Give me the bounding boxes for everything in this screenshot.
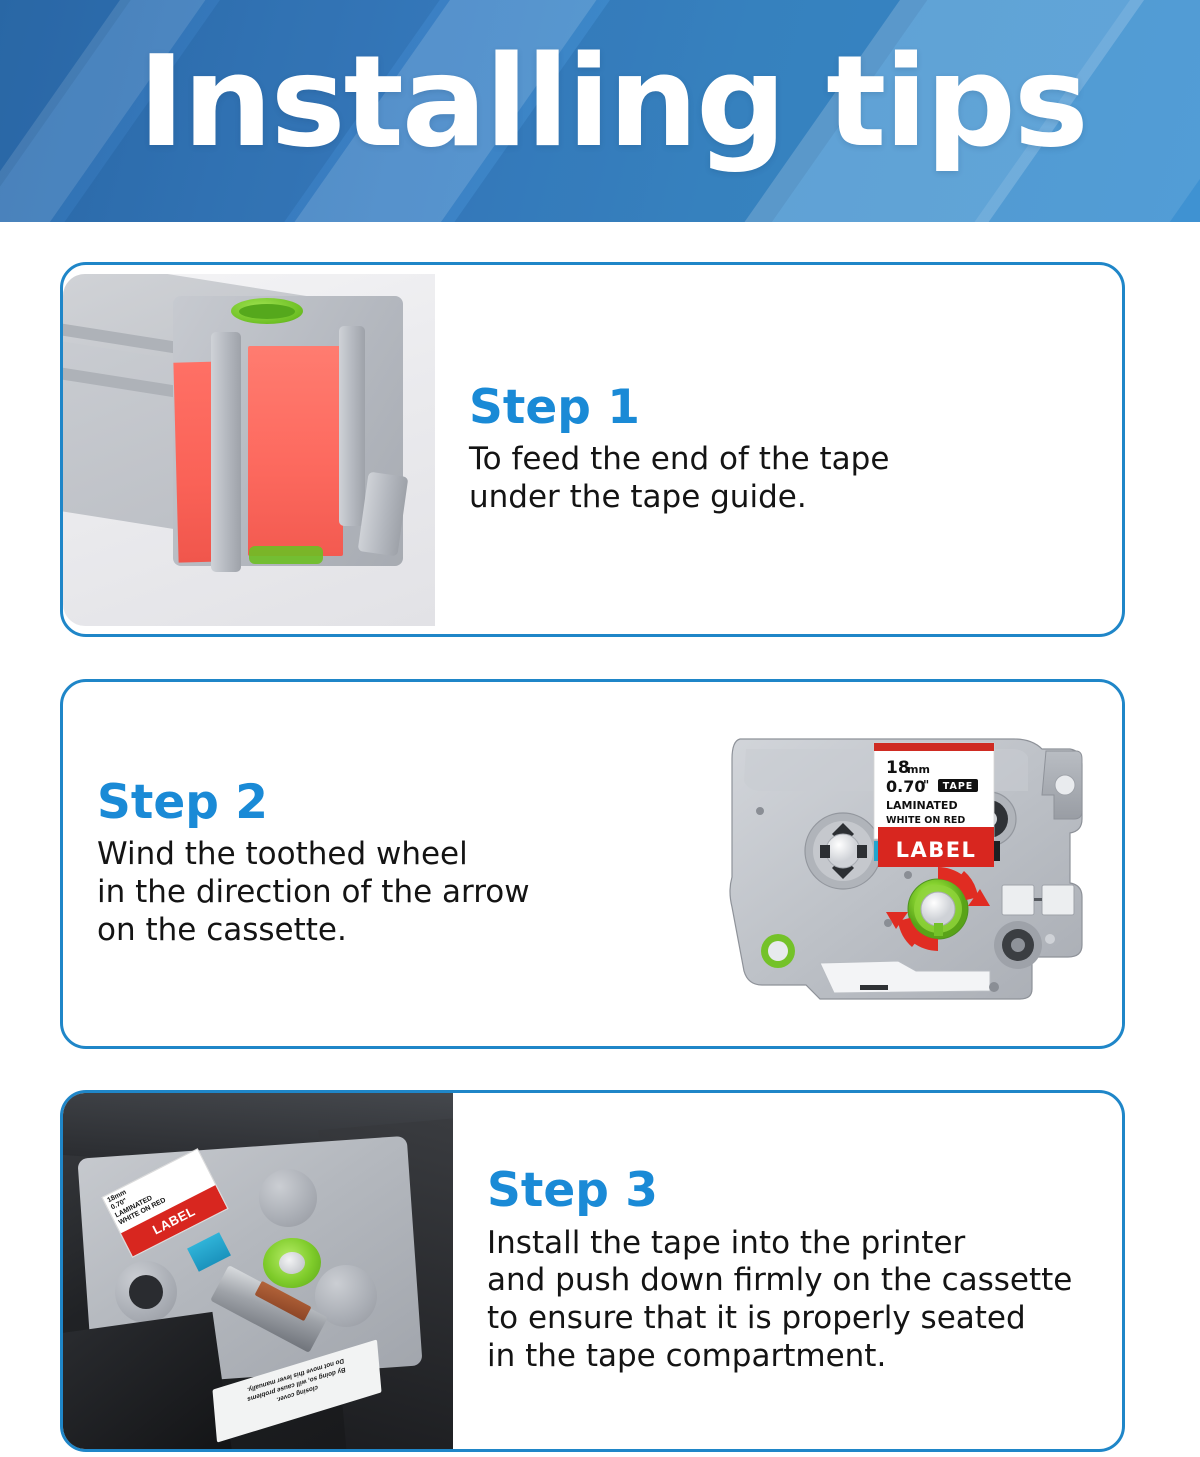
step-3-line-4: in the tape compartment. <box>487 1338 1088 1376</box>
guide-block-left <box>1002 885 1034 915</box>
tape-guide-post-left <box>211 332 241 572</box>
step-2-text: Step 2 Wind the toothed wheel in the dir… <box>63 778 702 950</box>
page-title: Installing tips <box>138 28 1087 177</box>
cassette-diagram: 18 mm 0.70 " TAPE LAMINATED WHITE ON RED… <box>702 699 1122 1029</box>
spool-key-left <box>820 845 830 858</box>
step-3-title: Step 3 <box>487 1166 1088 1215</box>
label-size-mm-unit: mm <box>907 763 930 776</box>
label-color-spec: WHITE ON RED <box>886 815 965 826</box>
step-3-line-2: and push down firmly on the cassette <box>487 1262 1088 1300</box>
step-2-body: Wind the toothed wheel in the direction … <box>97 836 668 949</box>
step-1-line-1: To feed the end of the tape <box>469 441 1088 479</box>
green-wheel-inner <box>239 304 295 319</box>
label-top-stripe <box>874 743 994 751</box>
cassette-label: 18 mm 0.70 " TAPE LAMINATED WHITE ON RED… <box>874 743 994 867</box>
step-3-body: Install the tape into the printer and pu… <box>487 1225 1088 1376</box>
label-size-inch-unit: " <box>923 778 929 792</box>
step-1-title: Step 1 <box>469 383 1088 432</box>
bay-spool-right <box>259 1169 317 1227</box>
spool-key-right <box>857 845 867 858</box>
pin-hole-2 <box>904 871 912 879</box>
label-tape-badge: TAPE <box>943 781 974 792</box>
step-1-line-2: under the tape guide. <box>469 479 1088 517</box>
roller-hub <box>1011 938 1025 952</box>
step-3-photo: 18mm 0.70" LAMINATED WHITE ON RED LABEL … <box>63 1093 453 1449</box>
pin-hole-3 <box>884 919 892 927</box>
label-size-inch: 0.70 <box>886 777 925 796</box>
step-2-line-3: on the cassette. <box>97 912 668 950</box>
step-3-line-1: Install the tape into the printer <box>487 1225 1088 1263</box>
ear-hole <box>1055 775 1075 795</box>
guide-plate-slot <box>860 985 888 990</box>
step-card-3: 18mm 0.70" LAMINATED WHITE ON RED LABEL … <box>60 1090 1125 1452</box>
green-wheel-bottom <box>249 546 323 564</box>
installing-tips-page: Installing tips Step 1 <box>0 0 1200 1457</box>
step-2-line-2: in the direction of the arrow <box>97 874 668 912</box>
label-brand: LABEL <box>896 838 977 862</box>
step-2-line-1: Wind the toothed wheel <box>97 836 668 874</box>
label-laminated: LAMINATED <box>886 799 958 812</box>
step-2-title: Step 2 <box>97 778 668 827</box>
step-card-1: Step 1 To feed the end of the tape under… <box>60 262 1125 637</box>
printer-body-front <box>63 1312 232 1449</box>
step-1-body: To feed the end of the tape under the ta… <box>469 441 1088 517</box>
guide-gap <box>1034 898 1042 901</box>
wheel-key <box>934 923 943 936</box>
pin-hole-5 <box>1045 934 1055 944</box>
pin-hole-4 <box>989 982 999 992</box>
step-3-text: Step 3 Install the tape into the printer… <box>453 1166 1122 1376</box>
step-2-photo: 18 mm 0.70 " TAPE LAMINATED WHITE ON RED… <box>702 699 1122 1029</box>
step-3-line-3: to ensure that it is properly seated <box>487 1300 1088 1338</box>
green-post-hub <box>768 941 788 961</box>
supply-spool-hub <box>826 834 860 868</box>
guide-block-right <box>1042 885 1074 915</box>
page-header: Installing tips <box>0 0 1200 222</box>
tape-strip-front <box>248 346 343 556</box>
step-1-photo <box>63 274 435 626</box>
pin-hole-1 <box>756 807 764 815</box>
step-1-text: Step 1 To feed the end of the tape under… <box>435 383 1122 517</box>
bay-spool-left-hub <box>129 1275 163 1309</box>
step-card-2: 18 mm 0.70 " TAPE LAMINATED WHITE ON RED… <box>60 679 1125 1049</box>
tape-guide-post-right <box>339 326 365 526</box>
